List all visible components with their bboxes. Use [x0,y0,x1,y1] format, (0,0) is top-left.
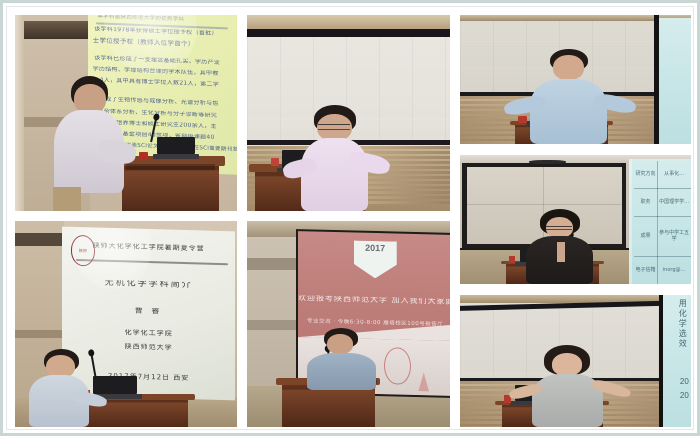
wall-trim-mid [247,320,300,330]
speaker-neckline [557,242,565,261]
speaker-torso [301,138,368,211]
banner-2017: 2017 [353,241,396,279]
slide-presenter: 曹 睿 [62,306,235,317]
table-value-3: inorg@… [657,256,691,284]
projection-screen-edge [659,18,691,144]
laptop-base [153,154,198,159]
screen-frame-edge [659,295,664,427]
screen-left-margin [629,159,633,284]
speaker [541,49,601,144]
projection-screen-vertical: 用化学选效 20 20 [663,295,691,427]
laptop [93,376,137,395]
speaker [304,105,377,211]
slide-seal [384,347,411,385]
speaker-glasses [546,226,571,230]
whiteboard-seam-h [467,204,622,205]
slide-headline: 欢迎报考陕西师范大学 加入我们大家庭 [298,296,450,306]
red-marker [139,152,148,160]
photo-bottom-left[interactable]: 陕师 陕师大化学化工学院暑期夏令营 无机化学学科简介 曹 睿 化学化工学院 陕西… [15,221,237,427]
speaker-torso [530,79,607,144]
table-value-0: 从事化… [657,161,691,188]
table-label-3: 电子信箱 [634,256,659,284]
wall-trim-upper [247,258,300,270]
speaker [53,76,137,211]
upper-dark-rail [247,29,450,37]
table-label-2: 成果 [634,216,659,257]
speaker [541,345,596,427]
speaker-head [552,353,582,376]
speaker-lower [53,187,82,211]
speaker-torso [307,353,375,390]
table-value-2: 参与中学工五学 [657,216,691,257]
wall-trim-mid [15,330,64,338]
photo-bottom-middle[interactable]: 2017 欢迎报考陕西师范大学 加入我们大家庭 专业交流 · 今晚6:30-8:… [247,221,450,427]
red-marker [509,256,516,264]
photo-bottom-right[interactable]: 用化学选效 20 20 [460,295,691,427]
photo-top-left[interactable]: 本学科是陕西师范大学的优势学科 该学科1978年获得硕士学位授予权（首批） 士学… [15,15,237,211]
photo-top-middle[interactable] [247,15,450,211]
speaker-glasses [318,124,350,130]
laptop [157,137,195,155]
photo-middle-right[interactable]: 研究方向 从事化… 职务 中国理学学… 成果 参与中学工五学 电子信箱 inor… [460,155,691,284]
red-marker [271,158,279,166]
speaker [536,209,587,284]
vertical-slide-text: 用化学选效 [677,299,688,349]
vertical-number-1: 20 [680,377,689,386]
projection-screen-table: 研究方向 从事化… 职务 中国理学学… 成果 参与中学工五学 电子信箱 inor… [629,159,691,284]
photo-top-right[interactable] [460,15,691,144]
vertical-number-2: 20 [680,391,689,400]
speaker [318,328,367,390]
slide-subline: 专业交流 · 今晚6:30-8:00 雁塔校区100号报告厅 [298,318,450,328]
ceiling-band [247,15,450,29]
screen-frame-edge [654,15,659,144]
wall-trim-upper [15,21,90,39]
wall-trim-upper [15,233,64,245]
ceiling-light [529,160,566,164]
podium-shadow [126,164,215,170]
table-value-1: 中国理学学… [657,188,691,218]
speaker-head [327,334,353,354]
speaker-head [553,55,584,80]
photo-collage: 本学科是陕西师范大学的优势学科 该学科1978年获得硕士学位授予权（首批） 士学… [0,0,700,436]
red-marker [518,116,527,124]
speaker [33,349,95,427]
table-label-0: 研究方向 [634,161,659,188]
wall-edge [15,15,24,211]
slide-affiliation-1: 化学化工学院 [62,328,235,339]
slide-title: 无机化学学科简介 [62,279,235,290]
table-label-1: 职务 [634,188,659,218]
